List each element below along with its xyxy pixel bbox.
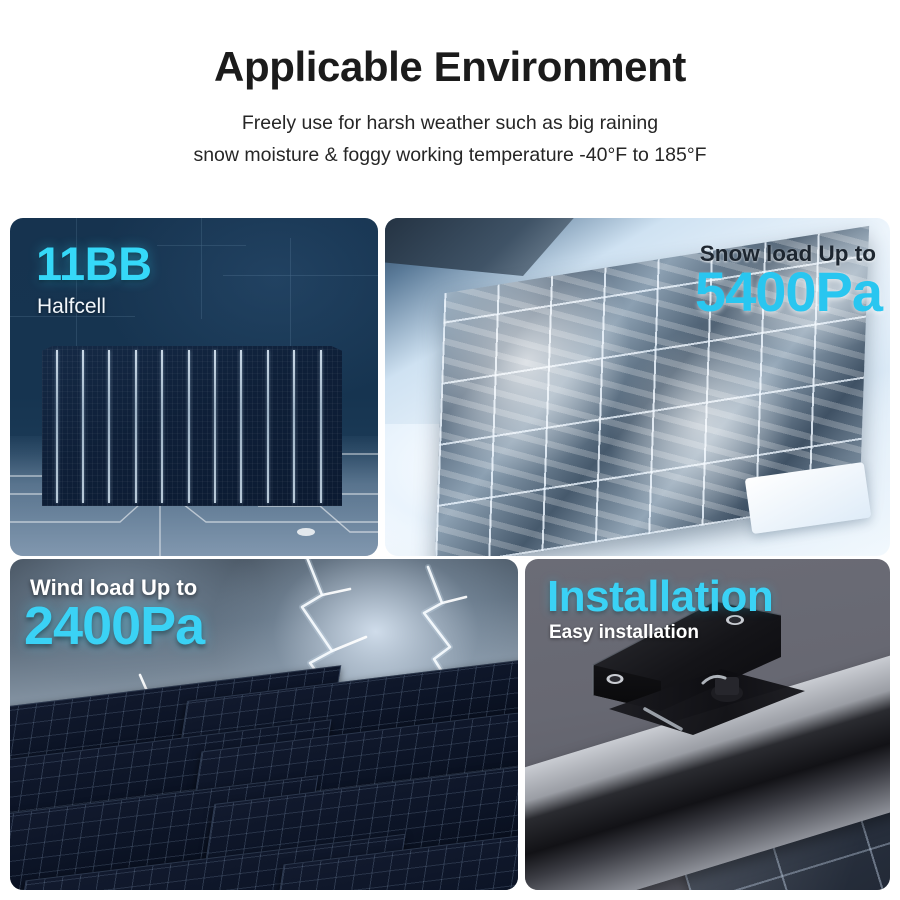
wind-load-value: 2400Pa [24,599,204,653]
feature-card-grid: 11BB Halfcell Snow load Up to 5400Pa [10,218,890,890]
solar-array-image [10,670,516,890]
installation-subtitle: Easy installation [549,622,699,644]
half-cell-image [42,346,342,506]
card-halfcell[interactable]: 11BB Halfcell [10,218,378,556]
installation-title: Installation [547,575,773,619]
busbar-group [42,346,342,506]
snow-load-value: 5400Pa [695,264,882,320]
page-subtitle-line-1: Freely use for harsh weather such as big… [0,108,900,140]
halfcell-subtitle: Halfcell [37,295,106,319]
header-section: Applicable Environment Freely use for ha… [0,0,900,171]
card-installation[interactable]: Installation Easy installation [525,559,890,890]
page-title: Applicable Environment [0,44,900,90]
card-wind-load[interactable]: Wind load Up to 2400Pa [10,559,518,890]
page-subtitle: Freely use for harsh weather such as big… [0,108,900,171]
card-snow-load[interactable]: Snow load Up to 5400Pa [385,218,890,556]
page-subtitle-line-2: snow moisture & foggy working temperatur… [0,140,900,172]
halfcell-title: 11BB [36,240,152,287]
